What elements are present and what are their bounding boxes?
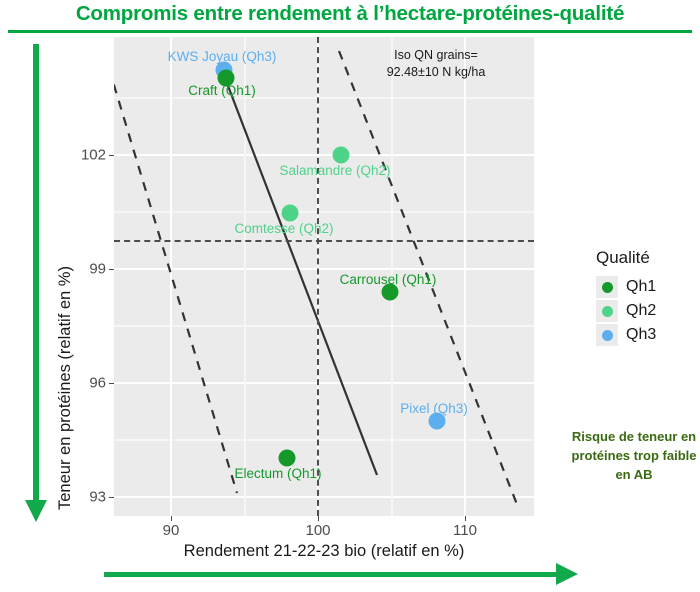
point-label-salamandre: Salamandre (Qh2) [279, 163, 390, 178]
legend-dot-qh2 [602, 306, 613, 317]
plot-panel: Iso QN grains= 92.48±10 N kg/ha KWS Joya… [114, 37, 534, 516]
y-tick-label-99: 99 [68, 261, 106, 278]
point-label-kws-joyau: KWS Joyau (Qh3) [168, 49, 277, 64]
iso-qn-annotation: Iso QN grains= 92.48±10 N kg/ha [341, 47, 531, 81]
legend-key-qh1 [596, 276, 618, 298]
legend-label-qh2: Qh2 [626, 302, 656, 320]
iso-line-lower-dashed [114, 52, 237, 493]
point-label-pixel: Pixel (Qh3) [400, 401, 468, 416]
y-tick-label-102: 102 [68, 147, 106, 164]
page-title: Compromis entre rendement à l’hectare-pr… [0, 2, 700, 26]
x-tick-mark-90 [171, 516, 172, 521]
x-tick-label-100: 100 [305, 522, 330, 539]
y-direction-arrow-head [25, 500, 47, 522]
point-label-comtesse: Comtesse (Qh2) [234, 221, 333, 236]
y-direction-arrow-shaft [33, 44, 39, 504]
risk-note: Risque de teneur en protéines trop faibl… [570, 428, 698, 485]
point-label-carrousel: Carrousel (Qh1) [340, 272, 437, 287]
iso-qn-lines [114, 37, 534, 516]
title-underline [8, 30, 692, 33]
y-tick-mark-93 [109, 497, 114, 498]
legend-label-qh3: Qh3 [626, 326, 656, 344]
iso-line-center-solid [220, 65, 377, 475]
legend-label-qh1: Qh1 [626, 278, 656, 296]
chart-root: Compromis entre rendement à l’hectare-pr… [0, 0, 700, 592]
x-direction-arrow-shaft [104, 572, 559, 577]
x-tick-mark-100 [318, 516, 319, 521]
y-tick-mark-102 [109, 155, 114, 156]
legend-key-qh2 [596, 300, 618, 322]
y-tick-mark-96 [109, 383, 114, 384]
y-tick-mark-99 [109, 269, 114, 270]
x-tick-label-90: 90 [163, 522, 180, 539]
x-axis-title: Rendement 21-22-23 bio (relatif en %) [114, 542, 534, 561]
y-tick-label-96: 96 [68, 375, 106, 392]
legend-key-qh3 [596, 324, 618, 346]
y-tick-label-93: 93 [68, 489, 106, 506]
legend: Qualité Qh1 Qh2 Qh3 [596, 248, 656, 347]
point-salamandre[interactable] [333, 147, 350, 164]
legend-title: Qualité [596, 248, 656, 268]
point-electum[interactable] [279, 450, 296, 467]
x-direction-arrow-head [556, 563, 578, 585]
point-label-craft: Craft (Qh1) [188, 83, 256, 98]
legend-item-qh3[interactable]: Qh3 [596, 323, 656, 347]
point-label-electum: Electum (Qh1) [234, 466, 321, 481]
legend-dot-qh3 [602, 330, 613, 341]
legend-item-qh2[interactable]: Qh2 [596, 299, 656, 323]
reference-line-y-mean [114, 240, 534, 242]
point-comtesse[interactable] [282, 205, 299, 222]
reference-line-x100 [317, 37, 319, 516]
x-tick-mark-110 [465, 516, 466, 521]
legend-item-qh1[interactable]: Qh1 [596, 275, 656, 299]
x-tick-label-110: 110 [453, 522, 477, 539]
legend-dot-qh1 [602, 282, 613, 293]
